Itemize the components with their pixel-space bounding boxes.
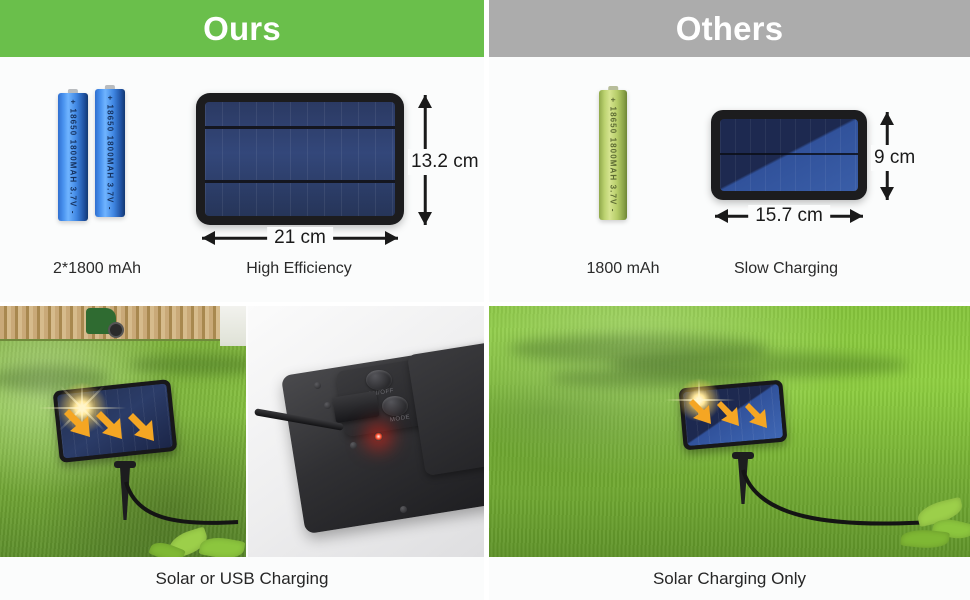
sunlight-arrow-icon [95, 408, 125, 442]
caption-battery-others: 1800 mAh [587, 260, 660, 278]
charging-led-indicator [374, 432, 383, 441]
battery-ours-1: + 18650 1800MAH 3.7V - [58, 93, 88, 221]
caption-panel-others: Slow Charging [734, 260, 838, 278]
onoff-button[interactable] [366, 370, 392, 390]
cell-divider [720, 153, 858, 155]
battery-others-label: + 18650 1800MAH 3.7V - [609, 97, 618, 212]
header-others-title: Others [676, 10, 784, 48]
vertical-divider [484, 0, 489, 600]
photo-garden-ours [0, 306, 246, 557]
solar-cells [205, 102, 395, 216]
solar-panel-ours [196, 93, 404, 225]
background-wall [220, 306, 246, 346]
solar-panel-others [711, 110, 867, 200]
comparison-infographic: Ours Others + 18650 1800MAH 3.7V - + 186… [0, 0, 970, 600]
mode-button[interactable] [382, 396, 408, 416]
battery-cap-icon [608, 86, 618, 90]
dimension-width-label-ours: 21 cm [267, 227, 333, 249]
arrow-head-down-icon [418, 212, 432, 225]
bottom-caption-ours: Solar or USB Charging [0, 557, 484, 600]
battery-ours-2: + 18650 1800MAH 3.7V - [95, 89, 125, 217]
battery-ours-1-label: + 18650 1800MAH 3.7V - [69, 99, 78, 214]
dimension-height-label-ours: 13.2 cm [408, 149, 482, 175]
lamp-cable [122, 478, 242, 538]
battery-ours-2-label: + 18650 1800MAH 3.7V - [106, 95, 115, 210]
header-others: Others [489, 0, 970, 57]
housing-screw [314, 382, 321, 389]
photo-lawn-others [489, 306, 970, 557]
arrow-head-down-icon [880, 187, 894, 200]
arrow-head-left-icon [202, 231, 215, 245]
spec-panel-others: + 18650 1800MAH 3.7V - 9 cm 15.7 cm 1800… [489, 57, 970, 302]
cell-divider [205, 180, 395, 183]
fence [0, 306, 246, 341]
battery-cap-icon [105, 85, 115, 89]
cell-divider [205, 126, 395, 129]
photo-usb-charging-ours: ON/OFF MODE [248, 306, 484, 557]
arrow-head-left-icon [715, 209, 728, 223]
housing-screw [350, 442, 357, 449]
lamp-cable [739, 466, 939, 536]
sunlight-arrow-icon [743, 400, 771, 430]
header-ours-title: Ours [203, 10, 281, 48]
arrow-head-up-icon [418, 95, 432, 108]
arrow-head-right-icon [850, 209, 863, 223]
bottom-caption-others: Solar Charging Only [489, 557, 970, 600]
sunlight-arrow-icon [127, 410, 157, 444]
sunlight-arrow-icon [687, 396, 715, 426]
dimension-width-label-others: 15.7 cm [748, 205, 830, 227]
dimension-arrow-width-ours: 21 cm [202, 227, 398, 249]
caption-panel-ours: High Efficiency [246, 260, 352, 278]
dimension-height-label-others: 9 cm [871, 145, 918, 171]
battery-others-1: + 18650 1800MAH 3.7V - [599, 90, 627, 220]
housing-screw [400, 506, 407, 513]
battery-cap-icon [68, 89, 78, 93]
arrow-head-right-icon [385, 231, 398, 245]
background-wheel [108, 322, 124, 338]
caption-battery-ours: 2*1800 mAh [53, 260, 141, 278]
spec-panel-ours: + 18650 1800MAH 3.7V - + 18650 1800MAH 3… [0, 57, 484, 302]
header-ours: Ours [0, 0, 484, 57]
sunlight-arrow-icon [715, 398, 743, 428]
housing-screw [324, 402, 331, 409]
dimension-arrow-width-others: 15.7 cm [715, 205, 863, 227]
solar-cells [720, 119, 858, 191]
sunlight-arrow-icon [63, 406, 93, 440]
arrow-head-up-icon [880, 112, 894, 125]
